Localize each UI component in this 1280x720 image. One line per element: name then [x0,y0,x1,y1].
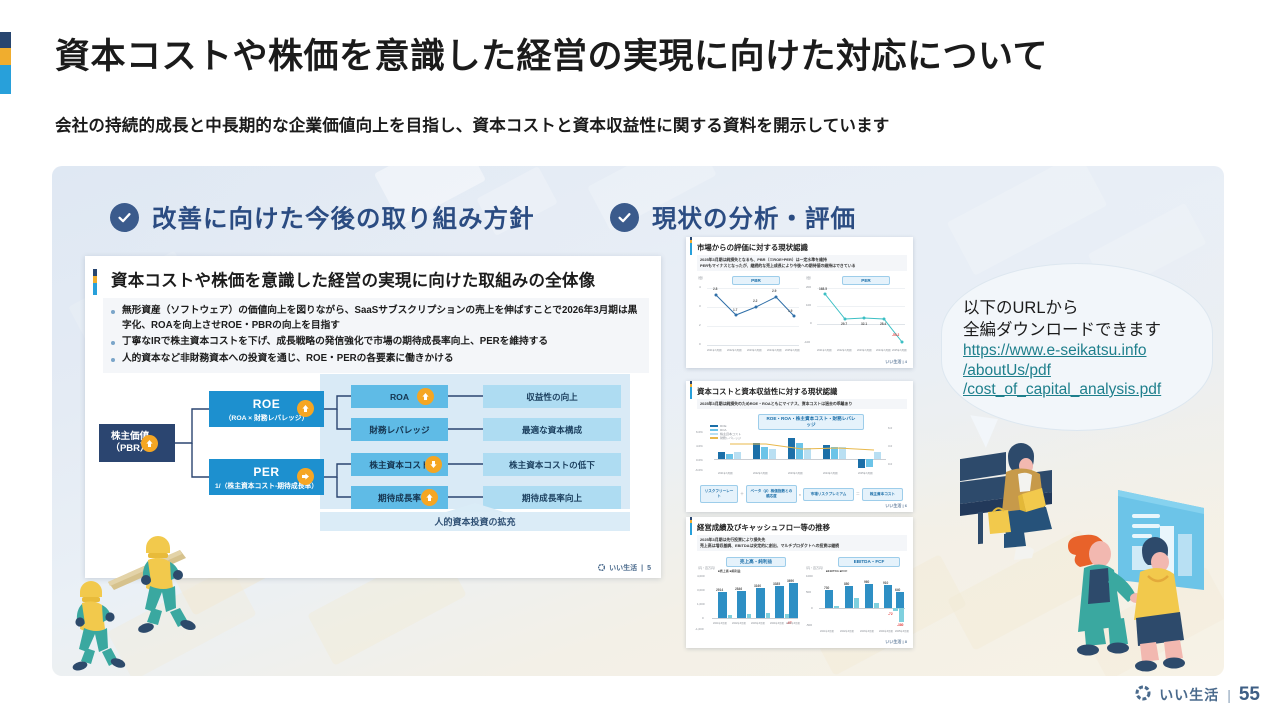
section-header-left: 改善に向けた今後の取り組み方針 [110,200,535,235]
accent-segment-gold [93,276,97,283]
thumbnail-bullets: 2025年3月期は先行投資により損失先 売上高は増収基調、EBITDAは安定的に… [697,535,907,551]
factor-label: 期待成長率 [378,492,421,504]
arrow-up-icon [141,435,158,452]
factor-label: 財務レバレッジ [369,424,429,436]
accent-segment-navy [0,32,11,48]
factor-box-roa: ROA [351,385,448,408]
decor-shape [947,529,1107,651]
section-label-left: 改善に向けた今後の取り組み方針 [152,200,535,235]
diagram-node-root: 株主価値 （PBR） [99,424,175,462]
thumbnail-title: 市場からの評価に対する現状認識 [697,242,907,253]
decor-shape [1082,566,1224,676]
arrow-right-icon [297,468,314,485]
slide-bullet-list: 無形資産（ソフトウェア）の価値向上を図りながら、SaaSサブスクリプションの売上… [103,298,649,373]
slide-footer-page: 5 [647,565,651,572]
download-link-part-1[interactable]: https://www.e-seikatsu.info [963,341,1213,360]
page-footer: いい生活 | 55 [1135,684,1260,706]
list-item: 2025年3月期は純損失のためROE・ROAともにマイナス、資本コストは過去の乖… [700,401,904,407]
bullet-dot-icon [111,358,115,362]
decor-shape [107,566,256,676]
list-item: PERもマイナスとなったが、継続的な売上成長により今後への期待値の維持はできてい… [700,263,904,269]
footer-page-number: 55 [1239,684,1260,706]
chart-badge: 売上高・純利益 [726,557,786,567]
accent-segment-blue [93,283,97,295]
outcome-box-profitability: 収益性の向上 [483,385,621,408]
header-accent-bar [0,32,11,94]
chart-roe-roa: ROE・ROA・株主資本コスト・財務レバレッジ ROE ROA 株主資本コスト … [696,414,906,480]
factor-label: ROA [390,392,409,402]
thumbnail-title: 経営成績及びキャッシュフロー等の推移 [697,522,907,533]
decor-shape [947,166,1108,276]
callout-line-1: 以下のURLから [963,297,1213,319]
download-link-part-2[interactable]: /aboutUs/pdf [963,361,1213,380]
line-series-leverage [714,414,886,470]
accent-segment-blue [0,65,11,94]
slide-accent-bar [690,523,692,535]
chart-per: PER （倍） 200 100 0 -100 168.5 29.7 32.1 2… [804,276,908,356]
thumbnail-capital-cost[interactable]: 資本コストと資本収益性に対する現状認識 2025年3月期は純損失のためROE・R… [686,381,913,512]
slide-accent-bar [93,269,97,295]
footer-brand: いい生活 [1159,685,1219,705]
arrow-up-icon [421,489,438,506]
chart-pbr: PBR （倍） 4 3 2 0 2.8 1.7 2.2 2.9 1.9 2021… [696,276,800,356]
bullet-text: 丁寧なIRで株主資本コストを下げ、成長戦略の発信強化で市場の期待成長率向上、PE… [122,335,641,350]
check-circle-icon [110,203,139,232]
bullet-dot-icon [111,310,115,314]
chart-badge: EBITDA・FCF [838,557,900,567]
download-link-part-3[interactable]: /cost_of_capital_analysis.pdf [963,380,1213,399]
factor-box-leverage: 財務レバレッジ [351,418,448,441]
chart-ebitda-fcf: EBITDA・FCF （円・百万円） 1000 500 0 -500 ■EBIT… [804,557,908,637]
diagram-node-roe: ROE （ROA × 財務レバレッジ） [209,391,324,427]
thumbnail-footer: いい生活 | 4 [885,359,907,365]
page-subtitle: 会社の持続的成長と中長期的な企業価値向上を目指し、資本コストと資本収益性に関する… [55,112,1235,136]
foundation-bar: 人的資本投資の拡充 [320,512,630,531]
callout-content: 以下のURLから 全編ダウンロードできます https://www.e-seik… [963,297,1213,399]
slide-accent-bar [690,387,692,399]
thumbnail-bullets: 2025年3月期は純損失となるも、PBR（＝ROE÷PER）は一定水準を維持 P… [697,255,907,271]
list-item: 人的資本など非財務資本への投資を通じ、ROE・PERの各要素に働きかける [111,352,641,367]
diagram-node-per: PER 1/（株主資本コスト-期待成長率） [209,459,324,495]
callout-bubble-tail [966,415,998,449]
value-driver-diagram: 株主価値 （PBR） ROE （ROA × 財務レバレッジ） PER 1/（株主… [85,374,661,559]
logo-mark-icon [1135,685,1151,706]
line-series [817,276,905,348]
axis-label: （倍） [696,276,705,280]
roe-sublabel: （ROA × 財務レバレッジ） [225,412,309,422]
thumbnail-market-valuation[interactable]: 市場からの評価に対する現状認識 2025年3月期は純損失となるも、PBR（＝RO… [686,237,913,368]
accent-segment-navy [93,269,97,276]
thumbnail-bullets: 2025年3月期は純損失のためROE・ROAともにマイナス、資本コストは過去の乖… [697,399,907,409]
outcome-box-growth-rate: 期待成長率向上 [483,486,621,509]
footer-separator: | [1227,687,1231,703]
section-header-right: 現状の分析・評価 [610,200,856,235]
per-label: PER [253,465,279,479]
slide-accent-bar [690,243,692,255]
bullet-text: 人的資本など非財務資本への投資を通じ、ROE・PERの各要素に働きかける [122,352,641,367]
section-label-right: 現状の分析・評価 [652,200,856,235]
line-series [707,276,799,348]
slide-title: 資本コストや株価を意識した経営の実現に向けた取組みの全体像 [111,267,647,291]
page-title: 資本コストや株価を意識した経営の実現に向けた対応について [55,36,1235,78]
axis-label: （倍） [804,276,813,280]
outcome-box-cost-reduction: 株主資本コストの低下 [483,453,621,476]
thumbnail-performance-cashflow[interactable]: 経営成績及びキャッシュフロー等の推移 2025年3月期は先行投資により損失先 売… [686,517,913,648]
factor-label: 株主資本コスト [369,459,429,471]
slide-footer-separator: | [641,565,643,572]
slide-footer-brand: いい生活 [609,563,637,573]
arrow-up-icon [297,400,314,417]
roe-label: ROE [253,397,281,411]
check-circle-icon [610,203,639,232]
chart-revenue-profit: 売上高・純利益 （円・百万円） 4,000 3,000 1,000 0 -1,0… [696,557,800,637]
logo-mark-icon [598,564,605,573]
callout-line-2: 全編ダウンロードできます [963,319,1213,341]
list-item: 無形資産（ソフトウェア）の価値向上を図りながら、SaaSサブスクリプションの売上… [111,304,641,333]
thumbnail-footer: いい生活 | 6 [885,503,907,509]
factor-box-growth: 期待成長率 [351,486,448,509]
accent-segment-gold [0,48,11,65]
bullet-text: 無形資産（ソフトウェア）の価値向上を図りながら、SaaSサブスクリプションの売上… [122,304,641,333]
arrow-down-icon [425,456,442,473]
list-item: 売上高は増収基調、EBITDAは安定的に創出、マルチプロダクトへの投資は継続 [700,543,904,549]
thumbnail-footer: いい生活 | 8 [885,639,907,645]
list-item: 丁寧なIRで株主資本コストを下げ、成長戦略の発信強化で市場の期待成長率向上、PE… [111,335,641,350]
bullet-dot-icon [111,341,115,345]
factor-box-equity-cost: 株主資本コスト [351,453,448,476]
arrow-up-icon [417,388,434,405]
thumbnail-title: 資本コストと資本収益性に対する現状認識 [697,386,907,397]
slide-preview-main[interactable]: 資本コストや株価を意識した経営の実現に向けた取組みの全体像 無形資産（ソフトウェ… [85,256,661,578]
slide-footer: いい生活 | 5 [598,563,651,573]
formula-row: リスクフリーレート ＋ ベータ（β）株価指数との感応度 × 市場リスクプレミアム… [700,485,903,503]
outcome-box-capital-structure: 最適な資本構成 [483,418,621,441]
